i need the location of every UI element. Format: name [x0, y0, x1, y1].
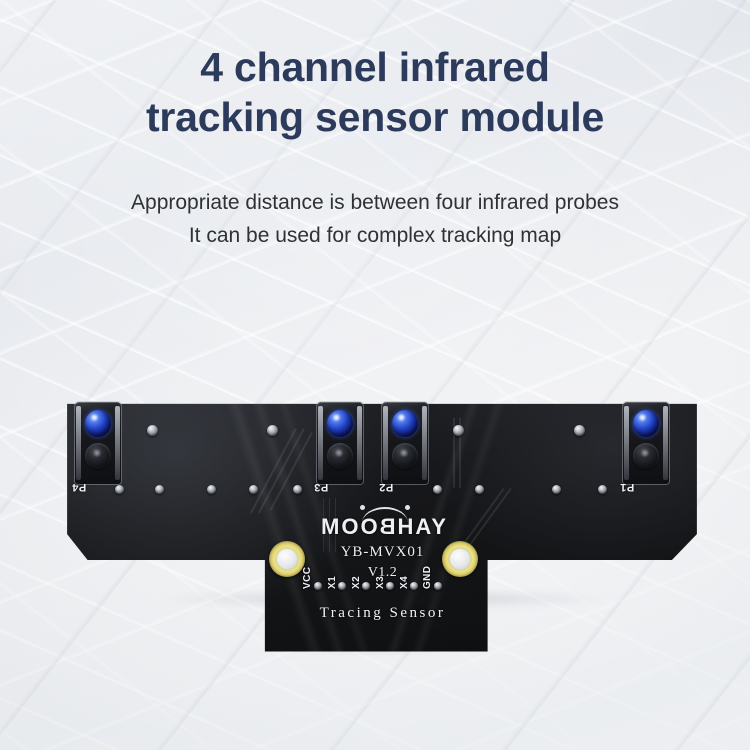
- page-subtitle-line1: Appropriate distance is between four inf…: [131, 191, 619, 214]
- ir-emitter-led-icon: [633, 410, 659, 437]
- ir-emitter-led-icon: [327, 410, 353, 437]
- solder-pad: [433, 485, 442, 494]
- pin-label-vcc: VCC: [302, 567, 313, 589]
- pin-label-gnd: GND: [422, 566, 433, 589]
- solder-pad: [207, 485, 216, 494]
- header-pad-vcc: [314, 582, 322, 590]
- page-title-line1: 4 channel infrared: [200, 44, 550, 90]
- probe-label-p4: P4: [62, 481, 96, 493]
- mounting-hole-left: [269, 541, 305, 577]
- ir-probe-p1: P1: [623, 402, 669, 484]
- solder-pad: [249, 485, 258, 494]
- header-pad-x1: [338, 582, 346, 590]
- page-subtitle: Appropriate distance is between four inf…: [0, 186, 750, 252]
- header-pad-x2: [362, 582, 370, 590]
- solder-pad: [147, 425, 158, 436]
- ir-receiver-icon: [392, 443, 418, 469]
- product-image-pcb: P4 P3 P2 P1: [55, 392, 710, 662]
- page-title: 4 channel infrared tracking sensor modul…: [0, 42, 750, 142]
- ir-emitter-led-icon: [392, 410, 418, 437]
- page-title-line2: tracking sensor module: [0, 92, 750, 142]
- header-pad-gnd: [434, 582, 442, 590]
- ir-receiver-icon: [85, 443, 111, 469]
- solder-pad: [267, 425, 278, 436]
- solder-pad: [453, 425, 464, 436]
- solder-pad: [598, 485, 607, 494]
- page-subtitle-line2: It can be used for complex tracking map: [0, 219, 750, 252]
- board-name-label: Tracing Sensor: [55, 605, 710, 622]
- solder-pad: [115, 485, 124, 494]
- mounting-hole-right: [442, 541, 478, 577]
- solder-pad: [293, 485, 302, 494]
- probe-label-p3: P3: [304, 481, 338, 493]
- probe-clip-left-icon: [383, 406, 388, 480]
- probe-clip-right-icon: [663, 406, 668, 480]
- solder-pad: [574, 425, 585, 436]
- solder-pad: [475, 485, 484, 494]
- brand-logo: YAHBOOM: [55, 514, 710, 540]
- probe-clip-right-icon: [115, 406, 120, 480]
- solder-pad: [552, 485, 561, 494]
- ir-probe-p2: P2: [382, 402, 428, 484]
- probe-clip-left-icon: [76, 406, 81, 480]
- probe-label-p2: P2: [369, 481, 403, 493]
- header-pad-x3: [386, 582, 394, 590]
- probe-clip-left-icon: [318, 406, 323, 480]
- ir-probe-p4: P4: [75, 402, 121, 484]
- probe-clip-left-icon: [624, 406, 629, 480]
- part-number: YB-MVX01: [55, 544, 710, 561]
- probe-clip-right-icon: [357, 406, 362, 480]
- ir-probe-p3: P3: [317, 402, 363, 484]
- pin-label-x4: X4: [399, 576, 410, 589]
- probe-label-p1: P1: [610, 481, 644, 493]
- product-banner: 4 channel infrared tracking sensor modul…: [0, 0, 750, 750]
- header-pad-x4: [410, 582, 418, 590]
- pin-label-x1: X1: [327, 576, 338, 589]
- probe-clip-right-icon: [422, 406, 427, 480]
- ir-receiver-icon: [327, 443, 353, 469]
- pin-label-x3: X3: [375, 576, 386, 589]
- ir-receiver-icon: [633, 443, 659, 469]
- pin-label-x2: X2: [351, 576, 362, 589]
- solder-pad: [155, 485, 164, 494]
- ir-emitter-led-icon: [85, 410, 111, 437]
